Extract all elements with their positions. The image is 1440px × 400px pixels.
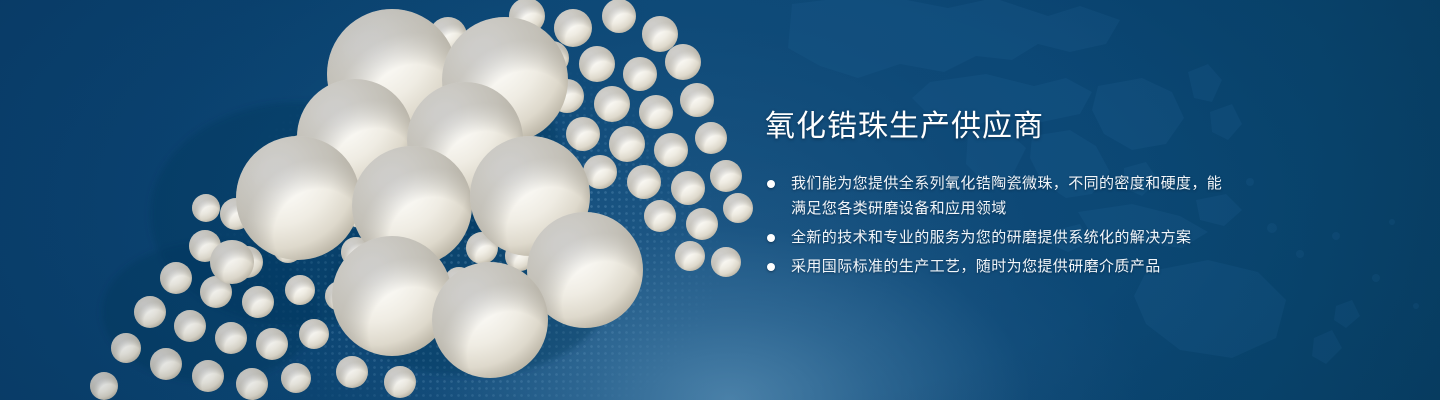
- bullet-dot-icon: [767, 234, 775, 242]
- bullet-dot-icon: [767, 263, 775, 271]
- list-item-label: 我们能为您提供全系列氧化锆陶瓷微珠，不同的密度和硬度，能满足您各类研磨设备和应用…: [791, 175, 1222, 217]
- list-item: 采用国际标准的生产工艺，随时为您提供研磨介质产品: [765, 254, 1225, 279]
- list-item-label: 全新的技术和专业的服务为您的研磨提供系统化的解决方案: [791, 229, 1191, 246]
- list-item: 全新的技术和专业的服务为您的研磨提供系统化的解决方案: [765, 225, 1225, 250]
- list-item: 我们能为您提供全系列氧化锆陶瓷微珠，不同的密度和硬度，能满足您各类研磨设备和应用…: [765, 171, 1225, 221]
- list-item-label: 采用国际标准的生产工艺，随时为您提供研磨介质产品: [791, 258, 1161, 275]
- hero-banner: 氧化锆珠生产供应商 我们能为您提供全系列氧化锆陶瓷微珠，不同的密度和硬度，能满足…: [0, 0, 1440, 400]
- banner-copy: 氧化锆珠生产供应商 我们能为您提供全系列氧化锆陶瓷微珠，不同的密度和硬度，能满足…: [765, 107, 1225, 279]
- page-title: 氧化锆珠生产供应商: [765, 107, 1225, 147]
- feature-bullet-list: 我们能为您提供全系列氧化锆陶瓷微珠，不同的密度和硬度，能满足您各类研磨设备和应用…: [765, 171, 1225, 279]
- bullet-dot-icon: [767, 180, 775, 188]
